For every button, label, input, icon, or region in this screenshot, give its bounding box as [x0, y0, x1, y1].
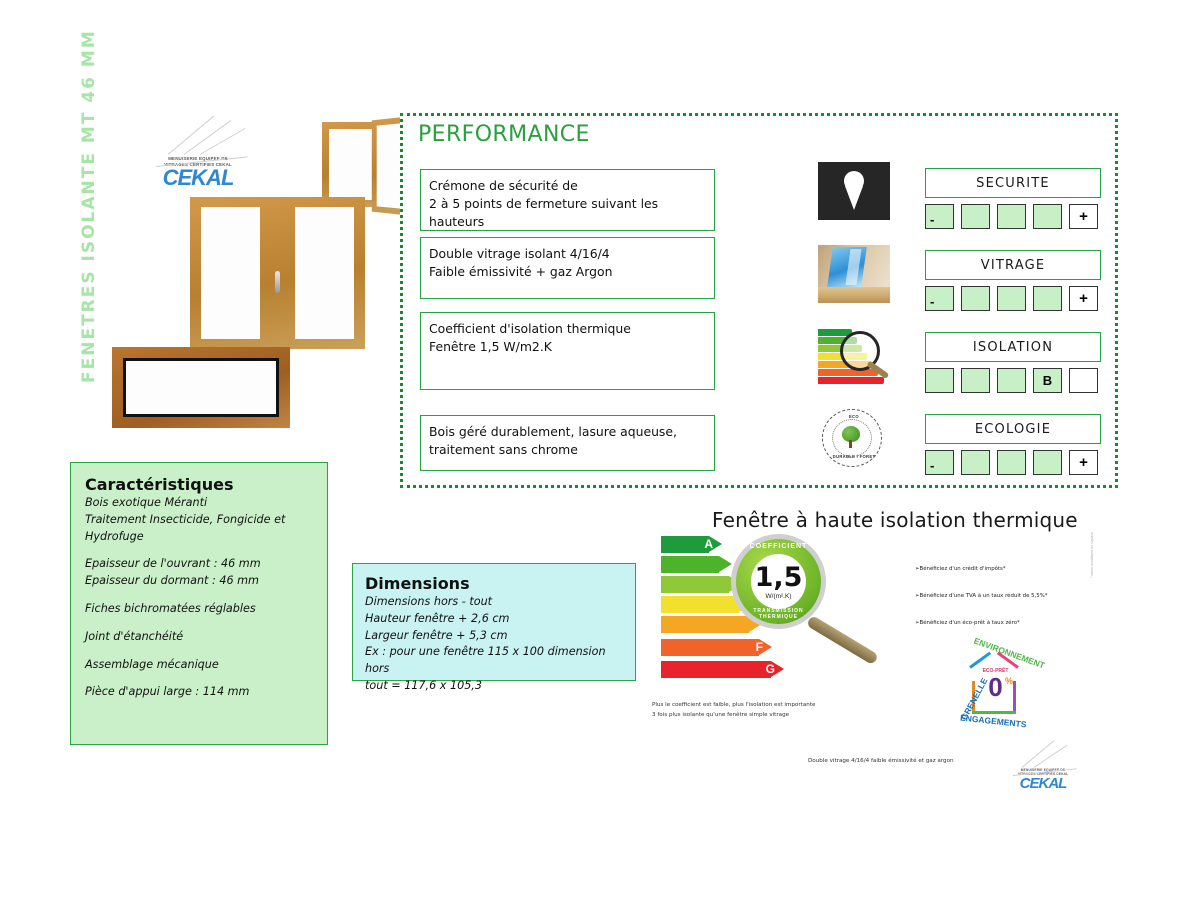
- performance-box-1-line-1: Crémone de sécurité de: [429, 177, 706, 195]
- energy-note-line-1: Plus le coefficient est faible, plus l'i…: [652, 700, 882, 710]
- performance-box-4: Bois géré durablement, lasure aqueuse, t…: [420, 415, 715, 471]
- dimensions-title: Dimensions: [365, 574, 623, 593]
- rating-cell-minus: -: [930, 295, 934, 308]
- rating-cell[interactable]: [997, 450, 1026, 475]
- caracteristiques-line: Traitement Insecticide, Fongicide et: [85, 512, 313, 529]
- energy-bar-f: F: [661, 639, 759, 656]
- rating-cells-securite[interactable]: - +: [925, 204, 1098, 229]
- rating-cell[interactable]: -: [925, 450, 954, 475]
- coefficient-value: 1,5: [755, 564, 803, 591]
- side-fine-print: * selon conditions en vigueur: [1090, 478, 1094, 578]
- performance-box-4-line-2: traitement sans chrome: [429, 441, 706, 459]
- rating-cell[interactable]: -: [925, 204, 954, 229]
- rating-cell[interactable]: [1033, 286, 1062, 311]
- benefits-list: ➢Bénéficiez d'un crédit d'impôts* ➢Bénéf…: [915, 566, 1090, 647]
- rating-cell[interactable]: [961, 204, 990, 229]
- rating-cell[interactable]: [997, 368, 1026, 393]
- rating-cell-minus: -: [930, 213, 934, 226]
- dimensions-line: Hauteur fenêtre + 2,6 cm: [365, 611, 623, 628]
- caracteristiques-line: Assemblage mécanique: [85, 657, 313, 674]
- eco-stamp-icon: ECO DURABLE / FORET: [818, 408, 890, 466]
- eco-pret-zero: 0: [988, 674, 1002, 700]
- rating-cell[interactable]: [1033, 450, 1062, 475]
- rating-label-securite: SECURITE: [925, 168, 1101, 198]
- energy-bar-letter: G: [766, 661, 775, 678]
- performance-box-2-line-1: Double vitrage isolant 4/16/4: [429, 245, 706, 263]
- caracteristiques-line: Epaisseur de l'ouvrant : 46 mm: [85, 556, 313, 573]
- energy-bar-a: A: [661, 536, 709, 553]
- energy-bar-g: G: [661, 661, 771, 678]
- rating-cell-plus: +: [1079, 208, 1088, 225]
- window-image-transom: [112, 347, 290, 428]
- benefit-item: ➢Bénéficiez d'une TVA à un taux réduit d…: [915, 593, 1090, 599]
- caracteristiques-line: Fiches bichromatées réglables: [85, 601, 313, 618]
- magnifier-ring-top: COEFFICIENT: [736, 543, 821, 550]
- dimensions-line: tout = 117,6 x 105,3: [365, 678, 623, 695]
- rating-cell[interactable]: [1069, 368, 1098, 393]
- grenelle-environnement-logo: ECO-PRÊT 0 % GRENELLE ENVIRONNEMENT ENGA…: [948, 650, 1043, 735]
- energy-label-icon: [818, 327, 890, 385]
- energy-bar-letter: F: [756, 639, 763, 656]
- rating-cell[interactable]: +: [1069, 286, 1098, 311]
- rating-cell[interactable]: [961, 286, 990, 311]
- rating-cell[interactable]: [961, 368, 990, 393]
- dimensions-panel: Dimensions Dimensions hors - tout Hauteu…: [352, 563, 636, 681]
- thermal-section-title: Fenêtre à haute isolation thermique: [712, 508, 1078, 532]
- energy-note-line-2: 3 fois plus isolante qu'une fenêtre simp…: [652, 710, 882, 720]
- caracteristiques-line: Epaisseur du dormant : 46 mm: [85, 573, 313, 590]
- coefficient-magnifier: COEFFICIENT TRANSMISSION THERMIQUE 1,5 W…: [731, 534, 826, 629]
- caracteristiques-line: Joint d'étanchéité: [85, 629, 313, 646]
- rating-cell[interactable]: -: [925, 286, 954, 311]
- vertical-product-title: FENETRES ISOLANTE MT 46 MM: [79, 63, 109, 383]
- performance-box-2-line-2: Faible émissivité + gaz Argon: [429, 263, 706, 281]
- rating-cell[interactable]: [1033, 204, 1062, 229]
- magnifier-ring-bottom: TRANSMISSION THERMIQUE: [736, 608, 821, 620]
- rating-grade-letter: B: [1043, 373, 1052, 388]
- rating-cells-isolation[interactable]: B: [925, 368, 1098, 393]
- magnifier-handle-icon: [806, 615, 879, 665]
- performance-box-3-line-1: Coefficient d'isolation thermique: [429, 320, 706, 338]
- caracteristiques-line: Hydrofuge: [85, 529, 313, 546]
- energy-bar-letter: A: [704, 536, 713, 553]
- performance-box-2: Double vitrage isolant 4/16/4 Faible émi…: [420, 237, 715, 299]
- eco-pret-percent: %: [1005, 676, 1013, 686]
- rating-cell[interactable]: [925, 368, 954, 393]
- rating-label-vitrage: VITRAGE: [925, 250, 1101, 280]
- rating-cell-minus: -: [930, 459, 934, 472]
- keyhole-icon: [818, 162, 890, 220]
- eco-stamp-bottom: DURABLE / FORET: [818, 454, 890, 459]
- bottom-glazing-note: Double vitrage 4/16/4 faible émissivité …: [808, 758, 954, 764]
- rating-cells-vitrage[interactable]: - +: [925, 286, 1098, 311]
- dimensions-line: Dimensions hors - tout: [365, 594, 623, 611]
- window-image-double-casement: [190, 197, 365, 349]
- window-handle-icon: [275, 271, 280, 293]
- rating-cell-plus: +: [1079, 454, 1088, 471]
- rating-cell-grade-b[interactable]: B: [1033, 368, 1062, 393]
- rating-cell[interactable]: +: [1069, 450, 1098, 475]
- performance-title: PERFORMANCE: [418, 122, 590, 147]
- cekal-wordmark: CEKAL: [1008, 776, 1078, 791]
- cekal-logo-bottom: MENUISERIE EQUIPEE DE VITRAGES CERTIFIES…: [1008, 758, 1078, 791]
- dimensions-line: Largeur fenêtre + 5,3 cm: [365, 628, 623, 645]
- caracteristiques-panel: Caractéristiques Bois exotique Méranti T…: [70, 462, 328, 745]
- rating-label-ecologie: ECOLOGIE: [925, 414, 1101, 444]
- performance-box-4-line-1: Bois géré durablement, lasure aqueuse,: [429, 423, 706, 441]
- benefit-item: ➢Bénéficiez d'un crédit d'impôts*: [915, 566, 1090, 572]
- rating-cell[interactable]: [997, 204, 1026, 229]
- performance-box-3-line-2: Fenêtre 1,5 W/m2.K: [429, 338, 706, 356]
- energy-bar-b: [661, 556, 719, 573]
- energy-bar-c: [661, 576, 729, 593]
- rating-cell-plus: +: [1079, 290, 1088, 307]
- poster-page: FENETRES ISOLANTE MT 46 MM MENUISERIE EQ…: [0, 0, 1202, 901]
- glazing-icon: [818, 245, 890, 303]
- coefficient-unit: W/(m².K): [766, 593, 792, 600]
- performance-box-1: Crémone de sécurité de 2 à 5 points de f…: [420, 169, 715, 231]
- cekal-logo-top: MENUISERIE EQUIPEE DE VITRAGES CERTIFIES…: [148, 140, 248, 189]
- rating-cells-ecologie[interactable]: - +: [925, 450, 1098, 475]
- energy-bar-d: [661, 596, 739, 613]
- dimensions-line: Ex : pour une fenêtre 115 x 100 dimensio…: [365, 644, 623, 678]
- caracteristiques-line: Pièce d'appui large : 114 mm: [85, 684, 313, 701]
- caracteristiques-line: Bois exotique Méranti: [85, 495, 313, 512]
- energy-rating-chart: A F G COEFFICIENT TRANSMISSION THERMIQUE…: [661, 536, 821, 691]
- energy-note: Plus le coefficient est faible, plus l'i…: [652, 700, 882, 720]
- rating-cell[interactable]: +: [1069, 204, 1098, 229]
- performance-box-1-line-2: 2 à 5 points de fermeture suivant les: [429, 195, 706, 213]
- performance-box-1-line-3: hauteurs: [429, 213, 706, 231]
- grenelle-word-3: ENGAGEMENTS: [960, 713, 1027, 730]
- rating-label-isolation: ISOLATION: [925, 332, 1101, 362]
- cekal-wordmark: CEKAL: [148, 167, 248, 189]
- eco-stamp-top: ECO: [818, 414, 890, 419]
- performance-box-3: Coefficient d'isolation thermique Fenêtr…: [420, 312, 715, 390]
- rating-cell[interactable]: [997, 286, 1026, 311]
- benefit-item: ➢Bénéficiez d'un éco-prêt à taux zéro*: [915, 620, 1090, 626]
- rating-cell[interactable]: [961, 450, 990, 475]
- caracteristiques-title: Caractéristiques: [85, 475, 313, 494]
